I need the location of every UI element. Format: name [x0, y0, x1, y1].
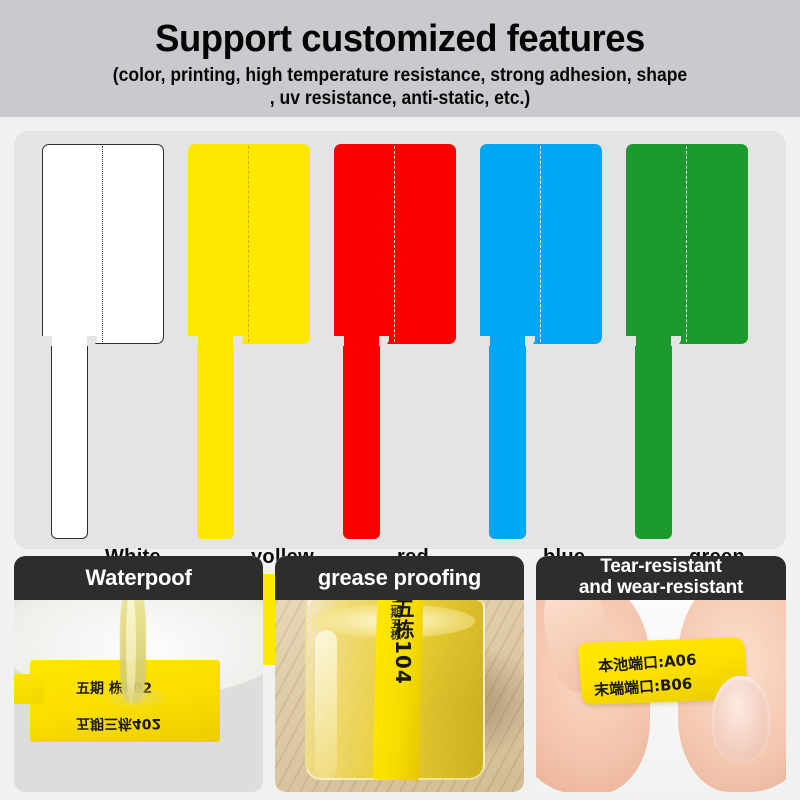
label-print-bottom: 五期三栋402	[76, 714, 161, 734]
label-tail	[343, 336, 380, 539]
feature-card-tear-resistant[interactable]: 本池端口:A06 末端端口:B06 Tear-resistant and wea…	[536, 556, 786, 792]
feature-title-line-2: and wear-resistant	[579, 577, 743, 598]
feature-title-tear-resistant: Tear-resistant and wear-resistant	[536, 556, 786, 600]
color-options-panel: White yollew red	[14, 131, 786, 549]
label-tail	[489, 336, 526, 539]
fillet-right	[233, 336, 243, 346]
subtitle-line-1: (color, printing, high temperature resis…	[113, 64, 687, 86]
fillet-left	[188, 336, 198, 346]
subtitle-line-2: , uv resistance, anti-static, etc.)	[270, 87, 530, 109]
label-head	[626, 144, 748, 344]
page-title: Support customized features	[16, 20, 784, 58]
perforation-line	[102, 146, 103, 342]
header-band: Support customized features (color, prin…	[0, 0, 800, 117]
perforation-line	[394, 146, 395, 342]
feature-title-waterproof: Waterpoof	[14, 556, 263, 600]
label-tail	[51, 336, 88, 539]
perforation-line	[540, 146, 541, 342]
feature-cards: 五期 栋402 五期三栋402 Waterpoof 三期五栋 五栋104 gre…	[14, 556, 786, 794]
label-head	[480, 144, 602, 344]
feature-card-waterproof[interactable]: 五期 栋402 五期三栋402 Waterpoof	[14, 556, 263, 792]
label-head	[334, 144, 456, 344]
fillet-left	[42, 336, 52, 346]
glass-highlight	[315, 630, 337, 780]
label-tail	[197, 336, 234, 539]
label-tail	[635, 336, 672, 539]
fillet-right	[525, 336, 535, 346]
perforation-line	[686, 146, 687, 342]
feature-title-grease-proofing: grease proofing	[275, 556, 524, 600]
feature-title-line-1: Tear-resistant	[600, 556, 721, 577]
strip-print-large: 五栋104	[383, 598, 413, 685]
feature-card-grease-proofing[interactable]: 三期五栋 五栋104 grease proofing	[275, 556, 524, 792]
fillet-right	[87, 336, 97, 346]
yellow-label-tab	[14, 674, 44, 704]
perforation-line	[248, 146, 249, 342]
label-head	[188, 144, 310, 344]
fillet-right	[379, 336, 389, 346]
right-thumb-nail	[712, 676, 770, 762]
fillet-left	[480, 336, 490, 346]
water-splash	[102, 688, 170, 710]
fillet-left	[334, 336, 344, 346]
page-subtitle: (color, printing, high temperature resis…	[76, 64, 724, 110]
water-stream-highlight	[126, 586, 136, 704]
label-head	[42, 144, 164, 344]
fillet-left	[626, 336, 636, 346]
fillet-right	[671, 336, 681, 346]
